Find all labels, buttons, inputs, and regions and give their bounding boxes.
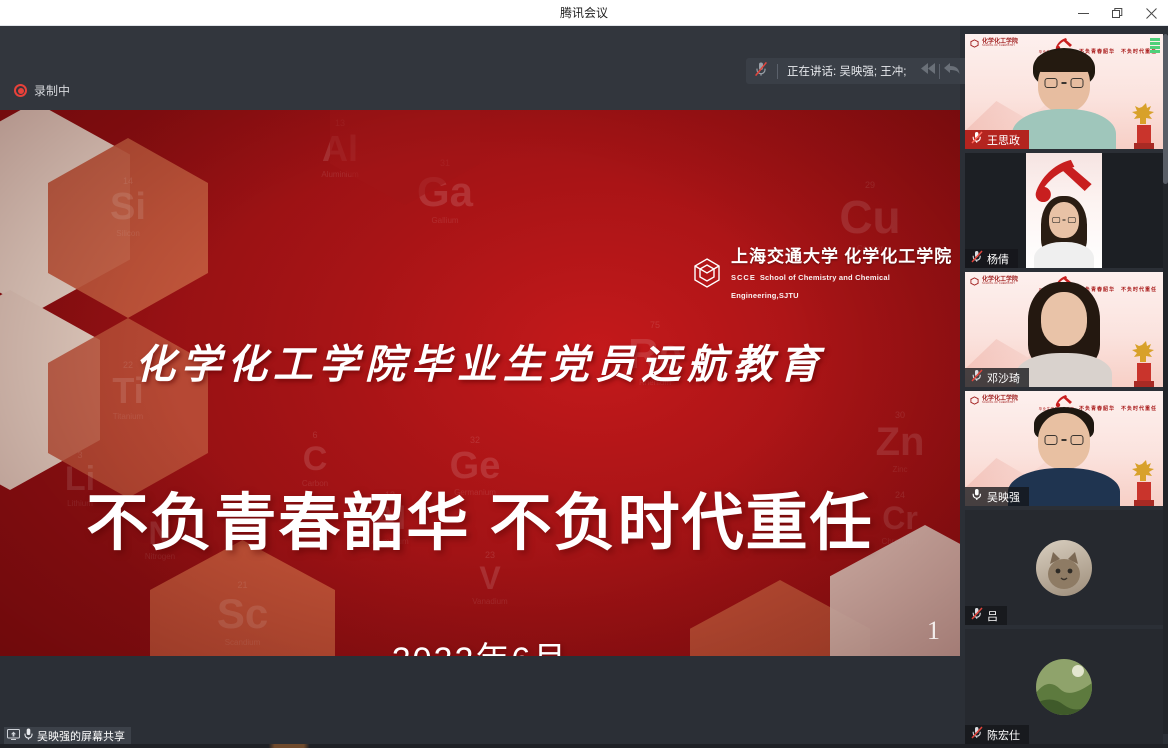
close-button[interactable] — [1134, 0, 1168, 26]
bg-monument-icon — [1129, 99, 1159, 149]
avatar — [1036, 540, 1092, 596]
participant-video-person — [1026, 196, 1102, 268]
participant-rail[interactable]: 化学化工学院SCHOOL OF CHEMISTRY 毕业生党员远航教育 不负青春… — [965, 34, 1163, 734]
participant-name: 吕 — [987, 608, 998, 624]
recording-label: 录制中 — [34, 82, 70, 99]
toolbar-divider — [777, 64, 778, 79]
minimize-button[interactable] — [1066, 0, 1100, 26]
shared-screen-stage: 14 Si Silicon 22 Ti Titanium 3LiLithium … — [0, 110, 960, 656]
participant-tile[interactable]: 化学化工学院SCHOOL OF CHEMISTRY 毕业生党员远航教育 不负青春… — [965, 272, 1163, 387]
participant-badge: 王思政 — [965, 130, 1029, 149]
avatar — [1036, 659, 1092, 715]
participant-name: 陈宏仕 — [987, 727, 1020, 743]
logo-text-block: 上海交通大学 化学化工学院 SCCESchool of Chemistry an… — [731, 242, 960, 303]
participant-name: 邓沙琦 — [987, 370, 1020, 386]
title-bar: 腾讯会议 — [0, 0, 1168, 26]
mic-muted-icon — [971, 250, 983, 268]
bg-monument-icon — [1129, 456, 1159, 506]
maximize-restore-button[interactable] — [1100, 0, 1134, 26]
window-title: 腾讯会议 — [0, 0, 1168, 26]
tencent-meeting-window: 腾讯会议 录制中 — [0, 0, 1168, 748]
screen-share-status: 吴映强的屏幕共享 — [4, 727, 131, 744]
speaking-label: 正在讲话: 吴映强; 王冲; — [787, 63, 906, 79]
mic-muted-icon — [971, 131, 983, 149]
participant-badge: 吴映强 — [965, 487, 1029, 506]
school-logo: 上海交通大学 化学化工学院 SCCESchool of Chemistry an… — [690, 242, 960, 303]
network-signal-icon — [1150, 38, 1160, 53]
logo-line-cn: 上海交通大学 化学化工学院 — [731, 247, 952, 266]
participant-name: 吴映强 — [987, 489, 1020, 505]
slide-script-title: 化学化工学院毕业生党员远航教育 — [0, 332, 960, 390]
participant-tile[interactable]: 杨倩 — [965, 153, 1163, 268]
nav-divider — [939, 64, 940, 79]
torso — [1016, 353, 1112, 387]
glasses-icon — [1045, 78, 1084, 88]
glasses-icon — [1045, 435, 1084, 445]
participant-badge: 陈宏仕 — [965, 725, 1029, 744]
bg-monument-icon — [1129, 337, 1159, 387]
sjtu-hex-logo-icon — [690, 256, 724, 290]
meeting-toolbar: 录制中 正在讲话: 吴映强; 王冲; — [0, 26, 960, 110]
slide-main-title: 不负青春韶华 不负时代重任 — [0, 472, 960, 562]
scrollbar-thumb[interactable] — [1163, 34, 1168, 184]
participant-tile[interactable]: 陈宏仕 — [965, 629, 1163, 744]
participant-tile[interactable]: 吕 — [965, 510, 1163, 625]
screen-share-label: 吴映强的屏幕共享 — [37, 728, 125, 744]
participant-rail-scrollbar[interactable] — [1163, 34, 1168, 734]
speaking-status-bar: 正在讲话: 吴映强; 王冲; — [746, 58, 969, 84]
record-dot-icon — [14, 84, 27, 97]
participant-badge: 邓沙琦 — [965, 368, 1029, 387]
mic-icon — [24, 727, 33, 745]
back-arrow-icon[interactable] — [943, 61, 961, 81]
participant-badge: 吕 — [965, 606, 1007, 625]
torso — [1034, 242, 1094, 268]
mic-muted-icon — [971, 726, 983, 744]
bottom-bar: 吴映强的屏幕共享 — [0, 656, 960, 748]
participant-name: 杨倩 — [987, 251, 1009, 267]
participant-name: 王思政 — [987, 132, 1020, 148]
screen-share-icon — [7, 727, 20, 745]
hair-top — [1036, 50, 1092, 72]
presentation-slide: 14 Si Silicon 22 Ti Titanium 3LiLithium … — [0, 110, 960, 656]
mic-muted-icon — [754, 61, 768, 82]
participant-tile-active-speaker[interactable]: 化学化工学院SCHOOL OF CHEMISTRY 毕业生党员远航教育 不负青春… — [965, 391, 1163, 506]
head — [1041, 292, 1087, 346]
taskbar-strip — [0, 744, 1168, 748]
window-controls — [1066, 0, 1168, 26]
logo-line-en: SCCESchool of Chemistry and Chemical Eng… — [731, 273, 890, 300]
participant-tile[interactable]: 化学化工学院SCHOOL OF CHEMISTRY 毕业生党员远航教育 不负青春… — [965, 34, 1163, 149]
mic-muted-icon — [971, 607, 983, 625]
mic-icon — [971, 488, 983, 506]
portrait-video-area — [1026, 153, 1102, 268]
mic-muted-icon — [971, 369, 983, 387]
slide-page-number: 1 — [927, 616, 940, 646]
participant-badge: 杨倩 — [965, 249, 1018, 268]
prev-page-icon[interactable] — [919, 61, 936, 81]
toolbar-nav-arrows — [919, 61, 961, 81]
glasses-icon — [1052, 217, 1075, 223]
slide-date: 2022年6月 — [0, 632, 960, 656]
recording-indicator: 录制中 — [14, 82, 70, 99]
